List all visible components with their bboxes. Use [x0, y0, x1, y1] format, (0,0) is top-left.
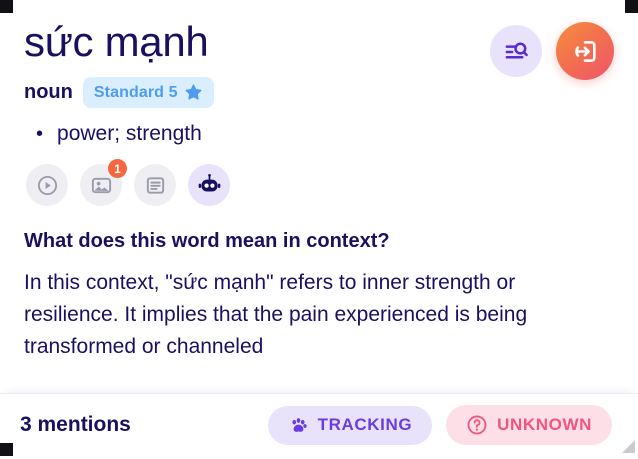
unknown-status-pill[interactable]: UNKNOWN [446, 405, 612, 445]
headword-title: sức mạnh [24, 18, 214, 65]
definition-text: power; strength [57, 122, 202, 146]
window-resize-grip[interactable] [619, 437, 636, 454]
mentions-count: 3 mentions [20, 413, 131, 437]
text-search-icon [503, 38, 530, 65]
headword-block: sức mạnh noun Standard 5 [24, 18, 214, 108]
card-footer: 3 mentions TRACKING [0, 393, 638, 456]
star-icon [184, 83, 203, 102]
ai-assistant-button[interactable] [188, 164, 230, 206]
tracking-status-label: TRACKING [318, 415, 413, 435]
document-lines-icon [144, 174, 167, 197]
explanation-question: What does this word mean in context? [24, 230, 614, 253]
images-button[interactable]: 1 [80, 164, 122, 206]
word-meta-row: noun Standard 5 [24, 77, 214, 108]
word-detail-card: sức mạnh noun Standard 5 [0, 0, 638, 456]
window-corner-marker-top-left [0, 0, 13, 13]
level-badge-label: Standard 5 [94, 84, 178, 102]
play-audio-button[interactable] [26, 164, 68, 206]
question-circle-icon [466, 414, 488, 436]
header-action-buttons [490, 18, 614, 80]
explanation-body: In this context, "sức mạnh" refers to in… [24, 267, 614, 363]
robot-icon [197, 173, 222, 198]
card-header: sức mạnh noun Standard 5 [24, 18, 614, 108]
paw-icon [288, 415, 309, 436]
definition-bullet: • [36, 124, 43, 144]
open-in-app-button[interactable] [556, 22, 614, 80]
image-icon [90, 174, 113, 197]
explanation-block: What does this word mean in context? In … [24, 230, 614, 363]
window-corner-marker-top-right [625, 0, 638, 13]
notes-button[interactable] [134, 164, 176, 206]
tracking-status-pill[interactable]: TRACKING [268, 406, 433, 445]
window-corner-marker-bottom-left [0, 443, 13, 456]
analyze-text-button[interactable] [490, 25, 542, 77]
login-arrow-icon [571, 37, 600, 66]
play-circle-icon [36, 174, 59, 197]
definition-list: • power; strength [24, 122, 614, 146]
media-action-row: 1 [24, 164, 614, 206]
definition-item: • power; strength [24, 122, 614, 146]
part-of-speech-label: noun [24, 81, 73, 104]
level-badge[interactable]: Standard 5 [83, 77, 214, 108]
card-content-area: sức mạnh noun Standard 5 [0, 0, 638, 393]
unknown-status-label: UNKNOWN [497, 415, 592, 435]
image-count-badge: 1 [108, 159, 127, 178]
